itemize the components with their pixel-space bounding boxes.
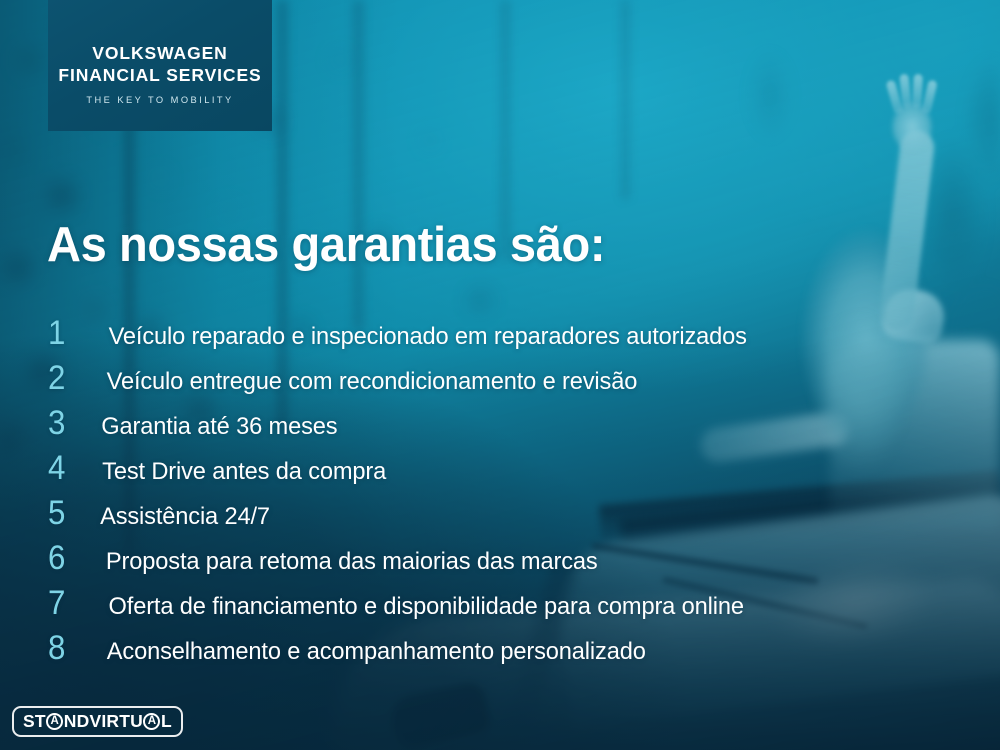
list-item-number: 3 xyxy=(48,406,95,440)
list-item-number: 8 xyxy=(48,631,95,665)
watermark-circled-a-icon: A xyxy=(143,713,160,730)
list-item: 4 Test Drive antes da compra xyxy=(46,451,906,496)
promotional-slide: VOLKSWAGEN FINANCIAL SERVICES THE KEY TO… xyxy=(0,0,1000,750)
list-item-number: 4 xyxy=(48,451,95,485)
list-item: 8 Aconselhamento e acompanhamento person… xyxy=(46,631,906,676)
logo-line-financial-services: FINANCIAL SERVICES xyxy=(58,64,261,86)
list-item-number: 1 xyxy=(48,316,95,350)
list-item: 1 Veículo reparado e inspecionado em rep… xyxy=(46,316,906,361)
list-item-label: Aconselhamento e acompanhamento personal… xyxy=(107,640,646,665)
list-item-number: 7 xyxy=(48,586,95,620)
list-item-label: Veículo entregue com recondicionamento e… xyxy=(107,370,638,395)
page-title: As nossas garantias são: xyxy=(47,221,605,270)
list-item-label: Proposta para retoma das maiorias das ma… xyxy=(106,550,598,575)
list-item-number: 2 xyxy=(48,361,95,395)
list-item-label: Oferta de financiamento e disponibilidad… xyxy=(109,595,744,620)
watermark-part-2: NDVIRTU xyxy=(64,711,143,732)
list-item-number: 5 xyxy=(48,496,95,530)
watermark-part-3: L xyxy=(161,711,172,732)
list-item: 3 Garantia até 36 meses xyxy=(46,406,906,451)
list-item-label: Test Drive antes da compra xyxy=(102,460,386,485)
volkswagen-financial-services-logo: VOLKSWAGEN FINANCIAL SERVICES THE KEY TO… xyxy=(48,0,272,131)
logo-tagline: THE KEY TO MOBILITY xyxy=(86,95,233,105)
list-item-number: 6 xyxy=(48,541,95,575)
list-item: 5 Assistência 24/7 xyxy=(46,496,906,541)
watermark-part-1: ST xyxy=(23,711,46,732)
list-item-label: Garantia até 36 meses xyxy=(101,415,337,440)
list-item: 2 Veículo entregue com recondicionamento… xyxy=(46,361,906,406)
watermark-circled-a-icon: A xyxy=(46,713,63,730)
standvirtual-watermark: ST A NDVIRTU A L xyxy=(12,706,183,737)
logo-line-volkswagen: VOLKSWAGEN xyxy=(92,42,227,64)
list-item: 6 Proposta para retoma das maiorias das … xyxy=(46,541,906,586)
list-item-label: Assistência 24/7 xyxy=(100,505,270,530)
list-item: 7 Oferta de financiamento e disponibilid… xyxy=(46,586,906,631)
list-item-label: Veículo reparado e inspecionado em repar… xyxy=(109,325,747,350)
guarantees-list: 1 Veículo reparado e inspecionado em rep… xyxy=(46,316,906,676)
standvirtual-logo-text: ST A NDVIRTU A L xyxy=(23,711,172,732)
